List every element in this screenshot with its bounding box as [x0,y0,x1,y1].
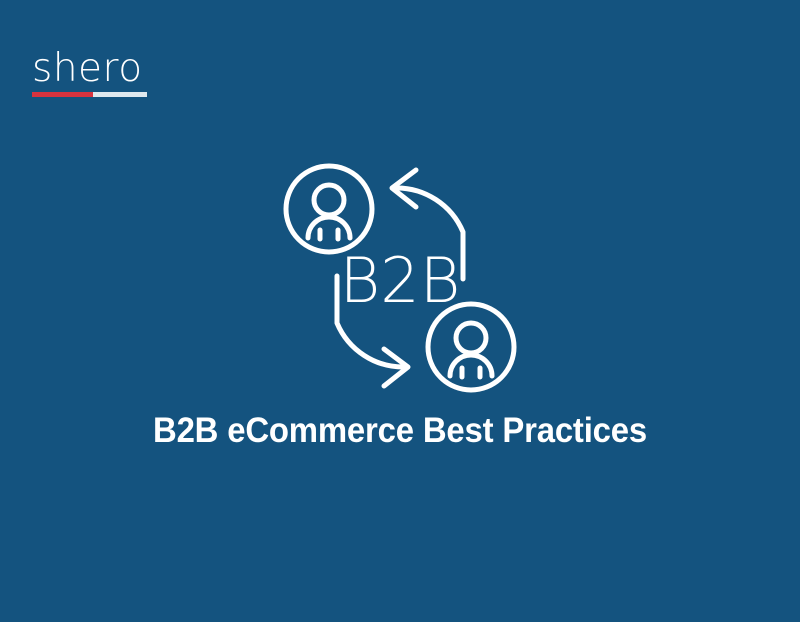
b2b-cycle-illustration: B2B [282,162,518,394]
logo-underline-secondary-segment [93,92,147,97]
brand-logo[interactable]: shero [32,47,156,97]
buyer-person-icon [286,166,372,252]
page-title: B2B eCommerce Best Practices [24,409,776,453]
b2b-center-label: B2B [340,244,461,317]
slide-canvas: shero [0,0,800,622]
logo-wordmark: shero [32,47,156,91]
logo-underline [32,92,147,97]
logo-underline-accent-segment [32,92,93,97]
